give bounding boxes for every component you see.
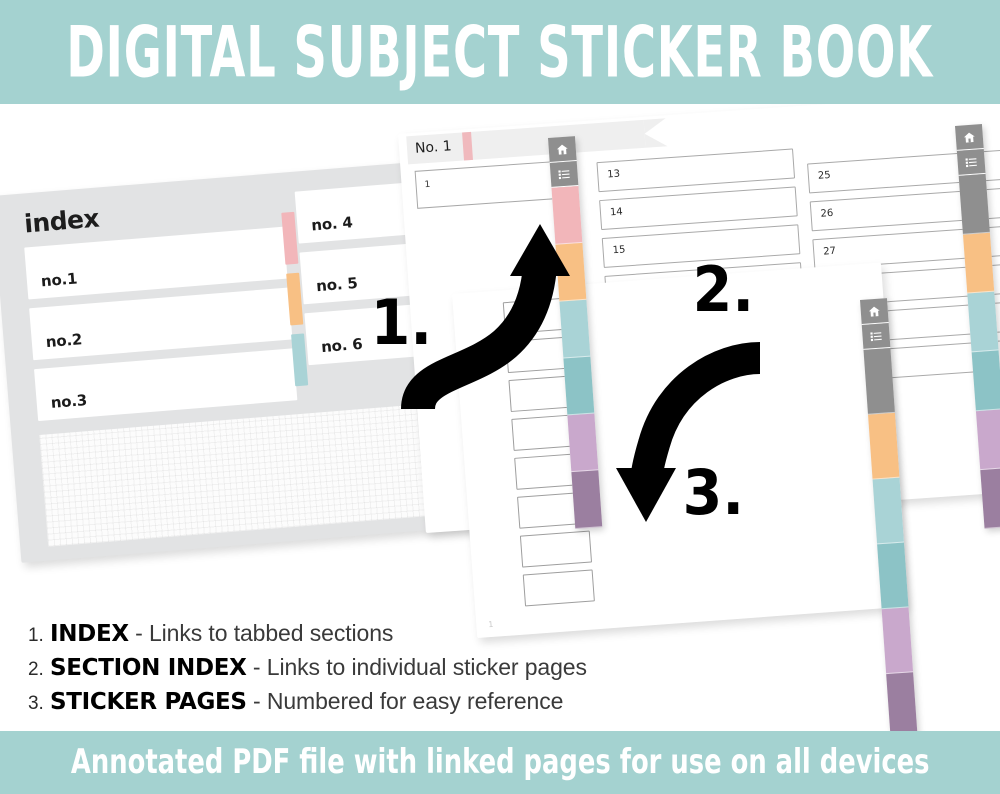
legend-item-index: 1. INDEX - Links to tabbed sections (28, 620, 587, 647)
home-icon (555, 142, 569, 156)
illustration-stage: index no.1 no.2 no.3 no. 4 no. 5 (0, 104, 1000, 731)
step-1-arrow-icon (410, 224, 590, 424)
home-button[interactable] (955, 124, 984, 151)
tab-sticker-4[interactable] (877, 543, 908, 610)
index-row-label: no. 6 (307, 335, 364, 365)
legend-description: Links to individual sticker pages (267, 654, 587, 680)
home-icon (962, 130, 976, 144)
legend: 1. INDEX - Links to tabbed sections 2. S… (28, 620, 587, 722)
section-row-label: 25 (818, 170, 831, 182)
index-title: index (23, 204, 100, 239)
section-row-label: 14 (610, 207, 623, 219)
tab-far-4[interactable] (972, 350, 1000, 411)
tab-sticker-3[interactable] (873, 478, 904, 545)
list-icon (557, 167, 571, 181)
list-button[interactable] (862, 323, 891, 350)
step-3-arrow-icon (610, 344, 780, 524)
section-first-box[interactable]: 1 (415, 160, 571, 209)
home-icon (867, 304, 881, 318)
step-number-2: 2. (693, 259, 754, 321)
legend-dash: - (247, 688, 267, 714)
index-row-label: no.2 (31, 330, 83, 360)
section-row-label: 26 (820, 208, 833, 220)
legend-description: Numbered for easy reference (267, 688, 563, 714)
legend-dash: - (247, 654, 267, 680)
tab-section-6[interactable] (571, 470, 602, 529)
index-row-label: no. 5 (302, 274, 359, 304)
legend-number: 1. (28, 625, 44, 646)
tab-sticker-6[interactable] (886, 672, 917, 731)
section-ribbon-accent (462, 132, 473, 161)
index-row-tab[interactable] (291, 333, 308, 386)
legend-item-sticker-pages: 3. STICKER PAGES - Numbered for easy ref… (28, 688, 587, 715)
tab-sticker-5[interactable] (882, 607, 913, 674)
legend-number: 3. (28, 693, 44, 714)
legend-term: SECTION INDEX (50, 655, 247, 681)
index-row-label: no. 4 (297, 213, 354, 243)
sticker-box[interactable] (523, 569, 595, 606)
index-row-tab[interactable] (281, 212, 298, 265)
tab-far-1[interactable] (959, 174, 990, 235)
tab-sticker-2[interactable] (868, 413, 899, 480)
legend-description: Links to tabbed sections (149, 620, 393, 646)
tab-far-5[interactable] (976, 409, 1000, 470)
section-row-label: 27 (823, 246, 836, 258)
index-row-no1[interactable]: no.1 (24, 227, 287, 300)
section-row[interactable]: 13 (596, 148, 795, 192)
section-row-label: 15 (612, 244, 625, 256)
footer-banner: Annotated PDF file with linked pages for… (0, 731, 1000, 794)
tab-sticker-1[interactable] (863, 348, 894, 415)
sticker-box[interactable] (520, 531, 592, 568)
legend-item-section-index: 2. SECTION INDEX - Links to individual s… (28, 654, 587, 681)
index-row-label: no.1 (26, 269, 78, 299)
index-row-no2[interactable]: no.2 (29, 288, 292, 361)
tab-far-2[interactable] (963, 233, 994, 294)
home-button[interactable] (548, 136, 577, 163)
legend-dash: - (129, 620, 149, 646)
page-title: DIGITAL SUBJECT STICKER BOOK (67, 17, 934, 88)
index-column-left: no.1 no.2 no.3 (24, 227, 298, 430)
tab-far-6[interactable] (980, 468, 1000, 529)
section-ribbon: No. 1 (406, 120, 645, 165)
footer-text: Annotated PDF file with linked pages for… (71, 743, 930, 782)
section-row[interactable]: 14 (599, 186, 798, 230)
legend-term: STICKER PAGES (50, 689, 247, 715)
list-button[interactable] (957, 149, 986, 176)
list-icon (869, 329, 883, 343)
tab-far-3[interactable] (967, 292, 998, 353)
index-row-no3[interactable]: no.3 (34, 348, 297, 421)
list-button[interactable] (550, 161, 579, 188)
home-button[interactable] (860, 298, 889, 325)
header-banner: DIGITAL SUBJECT STICKER BOOK (0, 0, 1000, 104)
section-ribbon-label: No. 1 (415, 138, 453, 157)
section-first-box-label: 1 (424, 180, 430, 190)
index-row-tab[interactable] (286, 273, 303, 326)
legend-term: INDEX (50, 621, 129, 647)
legend-number: 2. (28, 659, 44, 680)
section-row-label: 13 (607, 169, 620, 181)
list-icon (964, 155, 978, 169)
index-row-label: no.3 (36, 391, 88, 421)
